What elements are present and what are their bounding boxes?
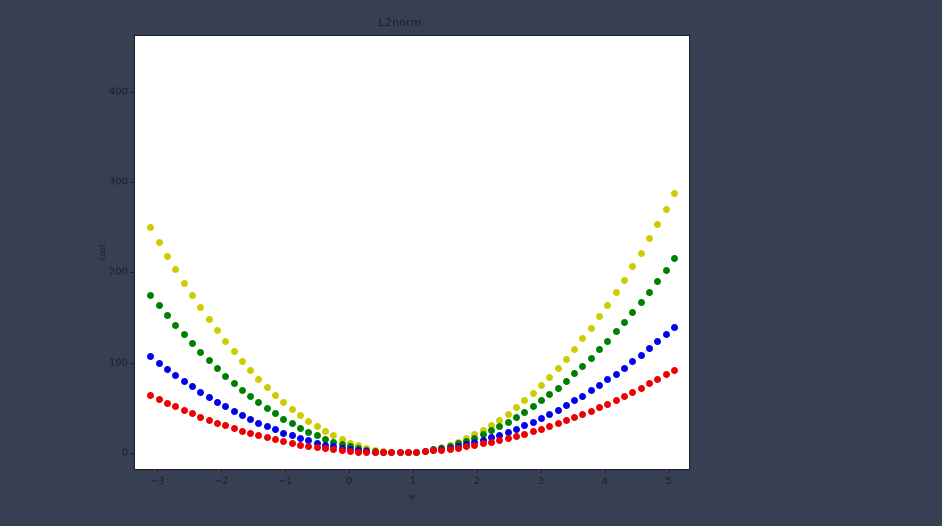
y-tick-label: 200: [109, 267, 128, 278]
scatter-point: [638, 385, 645, 392]
scatter-points-layer: [135, 36, 689, 469]
scatter-point: [646, 380, 653, 387]
y-axis-label-text: cost: [98, 244, 107, 261]
scatter-point: [604, 401, 611, 408]
scatter-point: [671, 367, 678, 374]
scatter-point: [164, 400, 171, 407]
scatter-point: [189, 410, 196, 417]
scatter-point: [405, 449, 412, 456]
scatter-point: [521, 431, 528, 438]
scatter-point: [455, 445, 462, 452]
scatter-point: [355, 449, 362, 456]
scatter-point: [471, 442, 478, 449]
scatter-point: [172, 403, 179, 410]
scatter-point: [289, 440, 296, 447]
scatter-point: [156, 396, 163, 403]
x-tick-label: 2: [474, 476, 480, 487]
scatter-point: [322, 445, 329, 452]
scatter-point: [422, 448, 429, 455]
scatter-point: [546, 423, 553, 430]
x-tick-label: 4: [602, 476, 608, 487]
scatter-point: [214, 420, 221, 427]
scatter-point: [222, 422, 229, 429]
scatter-point: [596, 404, 603, 411]
scatter-point: [571, 414, 578, 421]
y-tick-label: 300: [109, 177, 128, 188]
x-axis-label: w: [134, 492, 690, 501]
matplotlib-figure: L2norm cost 0100200300400−3−2−1012345 w: [0, 0, 942, 526]
scatter-point: [621, 393, 628, 400]
scatter-point: [339, 447, 346, 454]
scatter-point: [496, 437, 503, 444]
y-tick-label: 400: [109, 86, 128, 97]
scatter-point: [181, 407, 188, 414]
scatter-point: [272, 436, 279, 443]
x-tick-mark: [669, 469, 670, 473]
scatter-point: [297, 442, 304, 449]
x-tick-mark: [605, 469, 606, 473]
scatter-point: [314, 444, 321, 451]
scatter-point: [538, 426, 545, 433]
x-tick-label: 0: [346, 476, 352, 487]
scatter-point: [438, 447, 445, 454]
scatter-point: [588, 408, 595, 415]
plot-area: 0100200300400−3−2−1012345: [134, 35, 690, 470]
scatter-point: [239, 428, 246, 435]
scatter-series-red: [135, 36, 689, 469]
scatter-point: [147, 392, 154, 399]
scatter-point: [613, 397, 620, 404]
scatter-point: [563, 417, 570, 424]
scatter-point: [463, 443, 470, 450]
x-tick-mark: [413, 469, 414, 473]
scatter-point: [480, 440, 487, 447]
x-tick-mark: [541, 469, 542, 473]
scatter-point: [413, 449, 420, 456]
scatter-point: [280, 438, 287, 445]
x-tick-mark: [157, 469, 158, 473]
scatter-point: [397, 449, 404, 456]
x-tick-label: −2: [214, 476, 229, 487]
scatter-point: [231, 425, 238, 432]
scatter-point: [264, 434, 271, 441]
x-tick-mark: [349, 469, 350, 473]
x-tick-label: 1: [410, 476, 416, 487]
scatter-point: [388, 449, 395, 456]
x-tick-label: 3: [538, 476, 544, 487]
scatter-point: [555, 420, 562, 427]
scatter-point: [380, 449, 387, 456]
x-tick-mark: [285, 469, 286, 473]
scatter-point: [447, 446, 454, 453]
scatter-point: [363, 449, 370, 456]
x-tick-label: 5: [665, 476, 671, 487]
scatter-point: [247, 430, 254, 437]
y-tick-label: 100: [109, 357, 128, 368]
scatter-point: [505, 435, 512, 442]
scatter-point: [206, 417, 213, 424]
scatter-point: [330, 446, 337, 453]
scatter-point: [663, 371, 670, 378]
scatter-point: [530, 428, 537, 435]
x-tick-label: −3: [150, 476, 165, 487]
scatter-point: [255, 432, 262, 439]
scatter-point: [347, 448, 354, 455]
chart-title: L2norm: [0, 16, 871, 29]
scatter-point: [513, 433, 520, 440]
y-axis-label: cost: [96, 35, 108, 470]
scatter-point: [579, 411, 586, 418]
scatter-point: [488, 439, 495, 446]
scatter-point: [372, 449, 379, 456]
scatter-point: [654, 376, 661, 383]
scatter-point: [305, 443, 312, 450]
x-tick-label: −1: [278, 476, 293, 487]
scatter-point: [430, 447, 437, 454]
x-tick-mark: [477, 469, 478, 473]
y-tick-label: 0: [122, 447, 128, 458]
x-tick-mark: [221, 469, 222, 473]
scatter-point: [629, 389, 636, 396]
scatter-point: [197, 414, 204, 421]
